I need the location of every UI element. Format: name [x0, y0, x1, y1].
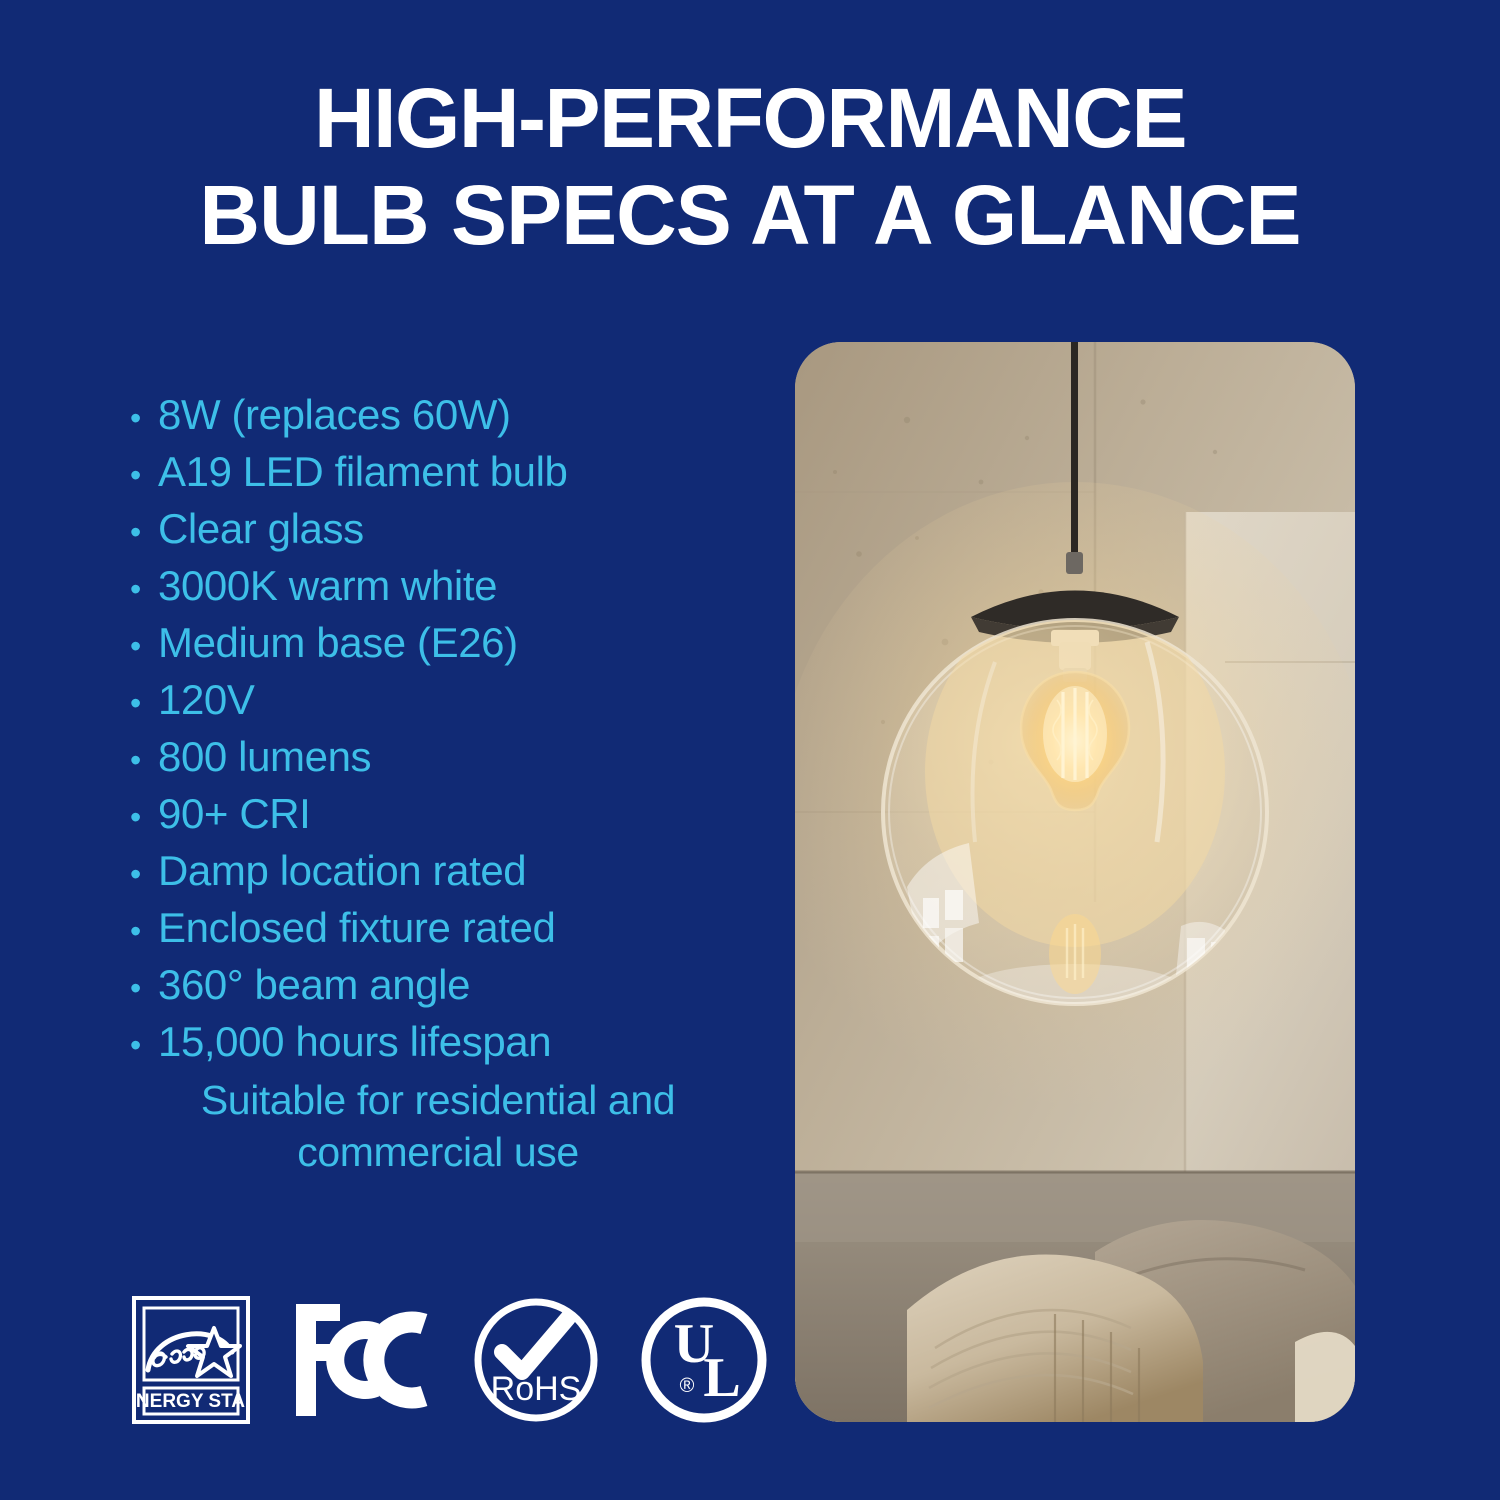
energy-star-icon: ENERGY STAR — [132, 1296, 250, 1424]
suitability-line-1: Suitable for residential and — [118, 1074, 758, 1126]
spec-list: • 8W (replaces 60W) • A19 LED filament b… — [130, 388, 770, 1072]
energy-star-label: ENERGY STAR — [132, 1391, 250, 1412]
spec-item: • 120V — [130, 673, 770, 730]
bullet-icon: • — [130, 677, 158, 730]
spec-label: 8W (replaces 60W) — [158, 388, 511, 441]
rohs-icon: RoHS — [472, 1296, 600, 1424]
spec-item: • 3000K warm white — [130, 559, 770, 616]
bullet-icon: • — [130, 905, 158, 958]
spec-label: A19 LED filament bulb — [158, 445, 568, 498]
spec-item: • Enclosed fixture rated — [130, 901, 770, 958]
spec-label: 800 lumens — [158, 730, 371, 783]
spec-label: 3000K warm white — [158, 559, 497, 612]
bullet-icon: • — [130, 449, 158, 502]
spec-item: • Damp location rated — [130, 844, 770, 901]
page-title-line-1: HIGH-PERFORMANCE — [0, 70, 1500, 167]
spec-label: 360° beam angle — [158, 958, 470, 1011]
bullet-icon: • — [130, 848, 158, 901]
product-photo — [795, 342, 1355, 1422]
bullet-icon: • — [130, 563, 158, 616]
spec-label: 120V — [158, 673, 255, 726]
bullet-icon: • — [130, 620, 158, 673]
spec-item: • 90+ CRI — [130, 787, 770, 844]
bullet-icon: • — [130, 791, 158, 844]
suitability-line-2: commercial use — [118, 1126, 758, 1178]
spec-label: 90+ CRI — [158, 787, 310, 840]
spec-label: Enclosed fixture rated — [158, 901, 555, 954]
spec-item: • 800 lumens — [130, 730, 770, 787]
spec-item: • 8W (replaces 60W) — [130, 388, 770, 445]
rohs-label: RoHS — [491, 1370, 582, 1408]
infographic-page: HIGH-PERFORMANCE BULB SPECS AT A GLANCE … — [0, 0, 1500, 1500]
spec-label: 15,000 hours lifespan — [158, 1015, 551, 1068]
bullet-icon: • — [130, 734, 158, 787]
spec-label: Clear glass — [158, 502, 364, 555]
ul-letter-l: L — [703, 1347, 740, 1409]
bullet-icon: • — [130, 1019, 158, 1072]
spec-label: Medium base (E26) — [158, 616, 518, 669]
bullet-icon: • — [130, 392, 158, 445]
registered-mark-icon: ® — [680, 1375, 695, 1397]
certification-badge-row: ENERGY STAR FCC RoHS U L ® UL — [132, 1296, 768, 1424]
page-title-line-2: BULB SPECS AT A GLANCE — [0, 167, 1500, 264]
spec-item: • Clear glass — [130, 502, 770, 559]
pendant-light-photograph — [795, 342, 1355, 1422]
bullet-icon: • — [130, 962, 158, 1015]
fcc-icon: FCC — [290, 1296, 432, 1424]
spec-item: • Medium base (E26) — [130, 616, 770, 673]
spec-item: • A19 LED filament bulb — [130, 445, 770, 502]
suitability-note: Suitable for residential and commercial … — [118, 1074, 758, 1178]
ul-icon: U L ® UL — [640, 1296, 768, 1424]
spec-item: • 15,000 hours lifespan — [130, 1015, 770, 1072]
page-title: HIGH-PERFORMANCE BULB SPECS AT A GLANCE — [0, 70, 1500, 264]
spec-item: • 360° beam angle — [130, 958, 770, 1015]
bullet-icon: • — [130, 506, 158, 559]
spec-label: Damp location rated — [158, 844, 526, 897]
